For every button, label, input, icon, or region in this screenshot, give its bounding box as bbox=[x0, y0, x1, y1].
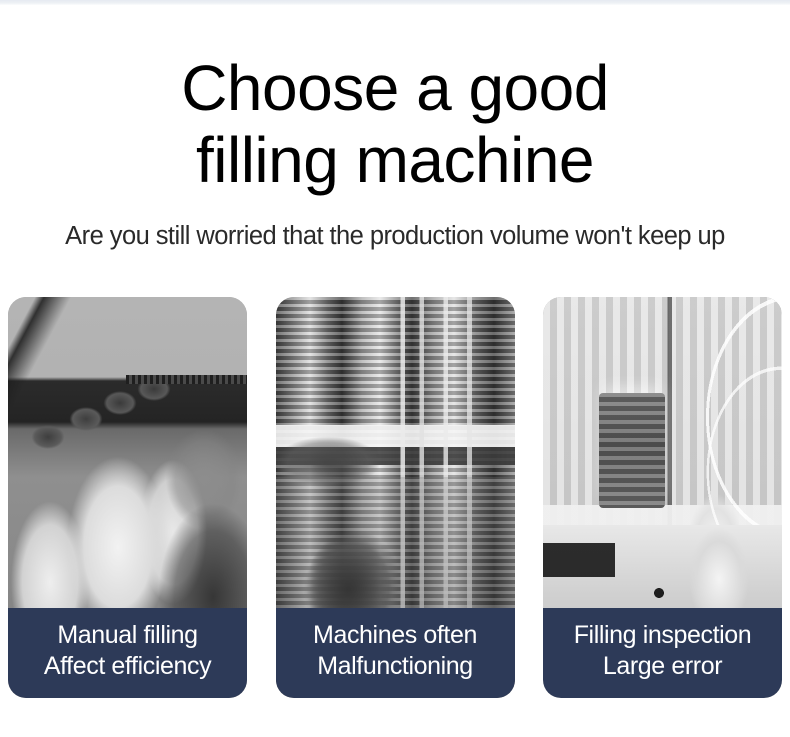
feature-card-filling-inspection[interactable]: Filling inspection Large error bbox=[543, 297, 782, 698]
feature-card-list: Manual filling Affect efficiency Machine… bbox=[8, 297, 782, 699]
caption-line-2: Malfunctioning bbox=[282, 651, 509, 682]
caption-line-2: Large error bbox=[549, 651, 776, 682]
page-title-line-2: filling machine bbox=[0, 124, 790, 196]
page-title-line-1: Choose a good bbox=[0, 52, 790, 124]
feature-card-caption: Filling inspection Large error bbox=[543, 608, 782, 698]
caption-line-1: Machines often bbox=[282, 620, 509, 651]
feature-card-caption: Manual filling Affect efficiency bbox=[8, 608, 247, 698]
caption-line-1: Filling inspection bbox=[549, 620, 776, 651]
caption-line-1: Manual filling bbox=[14, 620, 241, 651]
feature-card-manual-filling[interactable]: Manual filling Affect efficiency bbox=[8, 297, 247, 698]
page-title: Choose a good filling machine bbox=[0, 52, 790, 196]
feature-card-machine-malfunction[interactable]: Machines often Malfunctioning bbox=[276, 297, 515, 698]
feature-card-caption: Machines often Malfunctioning bbox=[276, 608, 515, 698]
promo-banner: Choose a good filling machine Are you st… bbox=[0, 0, 790, 737]
top-accent-strip bbox=[0, 0, 790, 5]
caption-line-2: Affect efficiency bbox=[14, 651, 241, 682]
page-subtitle: Are you still worried that the productio… bbox=[0, 219, 790, 253]
